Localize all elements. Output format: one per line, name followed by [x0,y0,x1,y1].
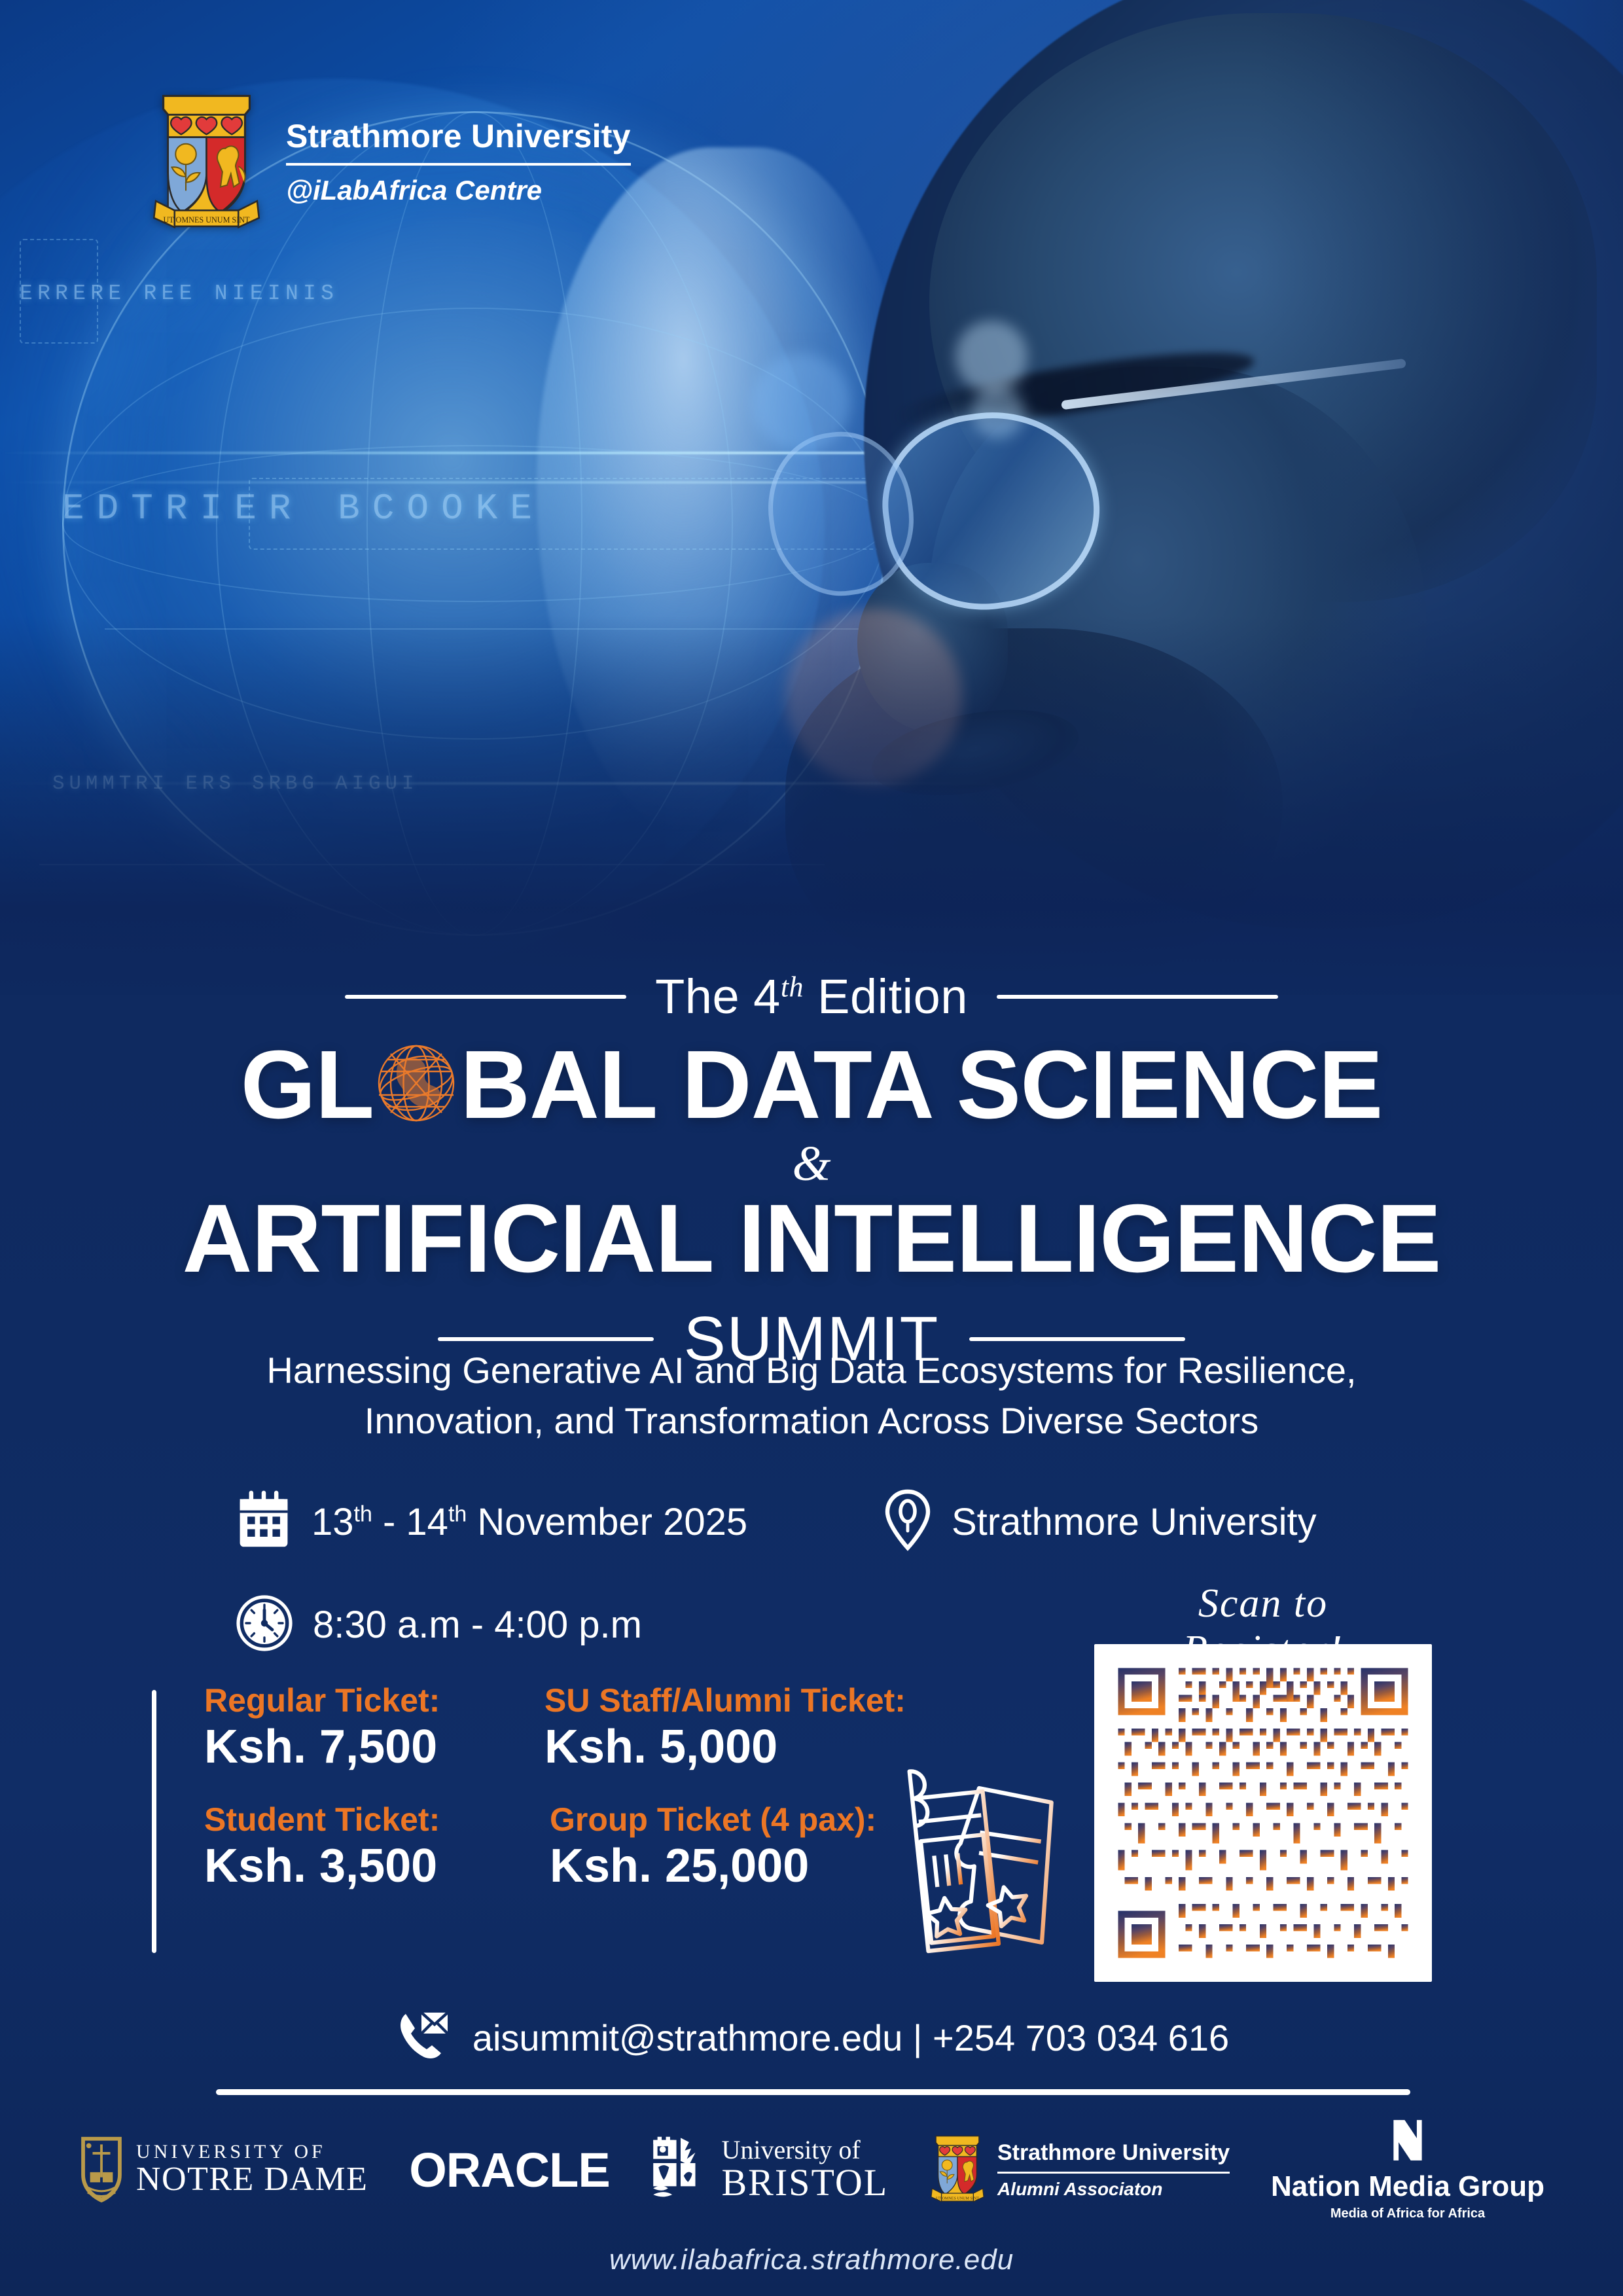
ticket-price: Ksh. 3,500 [204,1839,544,1893]
info-row-date-venue: 13th - 14th November 2025 Strathmore Uni… [236,1489,1414,1555]
contact-text[interactable]: aisummit@strathmore.edu | +254 703 034 6… [473,2017,1229,2059]
sponsor-nation-media: Nation Media Group Media of Africa for A… [1271,2118,1544,2221]
logo-divider [286,163,631,166]
edition-label: The 4th Edition [655,969,968,1024]
bokeh-light [753,353,851,452]
sponsor-logos: UNIVERSITY OF NOTRE DAME ORACLE [79,2117,1544,2222]
sponsor-bristol: University of BRISTOL [651,2136,889,2204]
ticket-label: Regular Ticket: [204,1682,544,1720]
ticket-label: Student Ticket: [204,1801,544,1839]
oracle-wordmark: ORACLE [409,2142,609,2198]
ticket-item: Student Ticket: Ksh. 3,500 [204,1801,544,1902]
qr-code-svg [1111,1661,1415,1965]
date-month-year: November 2025 [467,1501,747,1543]
ticket-accent-bar [152,1690,156,1953]
hero-bottom-fade [0,615,1623,1021]
event-date: 13th - 14th November 2025 [312,1500,747,1544]
globe-wireframe-icon [367,1034,465,1132]
date-start-ordinal: th [354,1502,372,1527]
sponsor-notre-dame: UNIVERSITY OF NOTRE DAME [79,2134,368,2205]
svg-text:UT OMNES UNUM SINT: UT OMNES UNUM SINT [936,2197,979,2200]
bokeh-light [955,321,1027,393]
subtitle: Harnessing Generative AI and Big Data Ec… [0,1345,1623,1446]
contact-row: aisummit@strathmore.edu | +254 703 034 6… [0,2006,1623,2070]
location-pin-icon [883,1489,932,1555]
nation-media-wordmark: Nation Media Group Media of Africa for A… [1271,2172,1544,2221]
qr-code[interactable] [1094,1644,1432,1982]
summit-rule-left [438,1337,654,1341]
centre-name: @iLabAfrica Centre [286,175,631,206]
sponsor-oracle: ORACLE [409,2142,609,2198]
alumni-line-2: Alumni Associaton [997,2179,1230,2200]
strathmore-crest-icon: UT OMNES UNUM SINT [149,90,264,231]
title-line1-prefix: GL [241,1031,374,1139]
ticket-item: Regular Ticket: Ksh. 7,500 [204,1682,544,1783]
date-cell: 13th - 14th November 2025 [236,1490,883,1554]
main-title-block: GL BAL DATA SCIENCE & ARTIFICIAL INTELL [0,1034,1623,1375]
clock-icon [236,1594,293,1655]
svg-text:UT OMNES UNUM SINT: UT OMNES UNUM SINT [164,215,251,224]
sponsors-divider [216,2089,1410,2095]
bristol-line-1: University of [722,2137,889,2163]
notre-dame-line-2: NOTRE DAME [136,2162,368,2198]
subtitle-line-2: Innovation, and Transformation Across Di… [0,1395,1623,1446]
notre-dame-shield-icon [79,2134,124,2205]
ticket-price: Ksh. 7,500 [204,1720,544,1774]
edition-row: The 4th Edition [0,969,1623,1024]
website-url[interactable]: www.ilabafrica.strathmore.edu [0,2244,1623,2276]
title-ampersand: & [0,1139,1623,1189]
alumni-line-1: Strathmore University [997,2140,1230,2166]
strathmore-logo-header: UT OMNES UNUM SINT Strathmore University… [149,90,631,231]
phone-envelope-icon [394,2006,454,2070]
event-venue: Strathmore University [952,1500,1317,1544]
bristol-wordmark: University of BRISTOL [722,2137,889,2203]
title-line-2: ARTIFICIAL INTELLIGENCE [0,1190,1623,1289]
edition-rule-left [345,995,626,999]
ticket-price: Ksh. 5,000 [544,1720,963,1774]
university-name: Strathmore University [286,120,631,152]
edition-rule-right [997,995,1278,999]
time-cell: 8:30 a.m - 4:00 p.m [236,1594,642,1655]
edition-suffix: Edition [804,969,968,1024]
summit-rule-right [969,1337,1185,1341]
date-separator: - 14 [372,1501,448,1543]
event-poster: ERRERE REE NIEINIS EDTRIER BCOOKE SUMMTR… [0,0,1623,2296]
date-start-day: 13 [312,1501,354,1543]
bristol-line-2: BRISTOL [722,2163,889,2203]
venue-cell: Strathmore University [883,1489,1317,1555]
event-time: 8:30 a.m - 4:00 p.m [313,1603,642,1647]
nation-media-line-1: Nation Media Group [1271,2172,1544,2201]
hud-text-b: EDTRIER BCOOKE [62,488,544,529]
logo-header-text: Strathmore University @iLabAfrica Centre [286,116,631,206]
title-line-1: GL BAL DATA SCIENCE [0,1034,1623,1135]
ticket-pricing-block: Regular Ticket: Ksh. 7,500 SU Staff/Alum… [152,1682,1003,1903]
sponsor-strathmore-alumni: UT OMNES UNUM SINT Strathmore University… [929,2133,1230,2207]
calendar-icon [236,1490,292,1554]
ticket-label: SU Staff/Alumni Ticket: [544,1682,963,1720]
notre-dame-line-1: UNIVERSITY OF [136,2142,368,2162]
nation-media-line-2: Media of Africa for Africa [1271,2206,1544,2221]
ticket-grid: Regular Ticket: Ksh. 7,500 SU Staff/Alum… [204,1682,1003,1903]
strathmore-alumni-crest-icon: UT OMNES UNUM SINT [929,2133,986,2207]
alumni-divider [997,2172,1230,2174]
date-end-ordinal: th [448,1502,467,1527]
hud-text-a: ERRERE REE NIEINIS [20,281,338,306]
bokeh-light [972,386,1024,439]
strathmore-alumni-wordmark: Strathmore University Alumni Associaton [997,2140,1230,2200]
nation-media-mark-icon [1387,2118,1428,2166]
edition-ordinal: th [781,971,804,1003]
notre-dame-wordmark: UNIVERSITY OF NOTRE DAME [136,2142,368,2198]
subtitle-line-1: Harnessing Generative AI and Big Data Ec… [0,1345,1623,1395]
edition-prefix: The 4 [655,969,781,1024]
tickets-illustration-icon [897,1767,1093,1964]
bristol-crest-icon [651,2136,710,2204]
title-line1-suffix: BAL DATA SCIENCE [460,1031,1382,1139]
